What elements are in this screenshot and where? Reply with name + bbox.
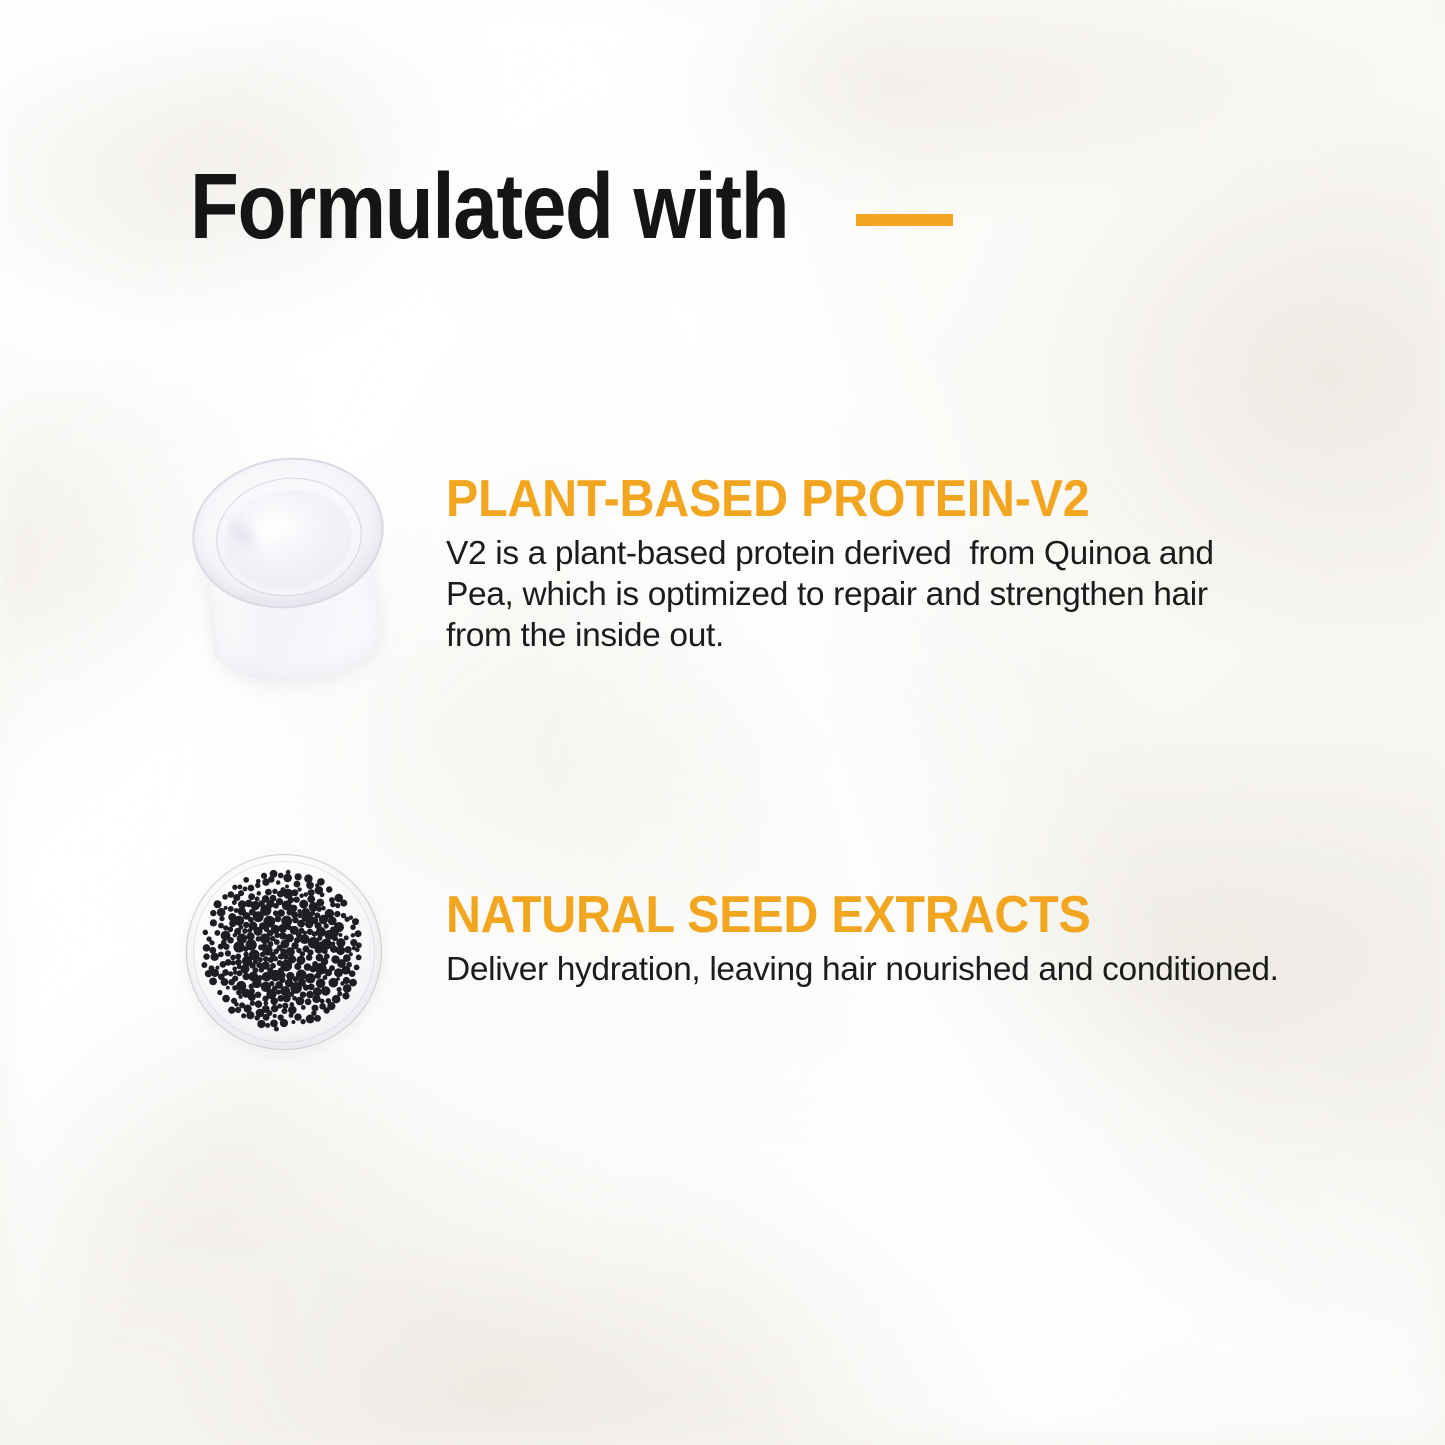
petri-dish-black-seeds-icon [186,854,382,1050]
petri-dish [186,854,382,1050]
ingredient-block-plant-based-protein: PLANT-BASED PROTEIN-V2 V2 is a plant-bas… [0,430,1445,700]
ingredient-description: Deliver hydration, leaving hair nourishe… [446,949,1286,990]
ingredient-title: PLANT-BASED PROTEIN-V2 [446,472,1162,527]
formulated-with-infographic: Formulated with PLANT-BASED PROTEIN-V2 V… [0,0,1445,1445]
seed-cluster [187,855,381,1049]
accent-dash-icon [856,214,953,226]
page-title-text: Formulated with [190,160,788,253]
ingredient-title: NATURAL SEED EXTRACTS [446,888,1227,943]
ingredient-block-natural-seed-extracts: NATURAL SEED EXTRACTS Deliver hydration,… [0,840,1445,1070]
ingredient-copy: NATURAL SEED EXTRACTS Deliver hydration,… [446,888,1286,990]
page-title: Formulated with [190,160,953,253]
glass-of-clear-liquid-icon [178,438,403,688]
ingredient-copy: PLANT-BASED PROTEIN-V2 V2 is a plant-bas… [446,472,1216,656]
ingredient-description: V2 is a plant-based protein derived from… [446,533,1216,656]
